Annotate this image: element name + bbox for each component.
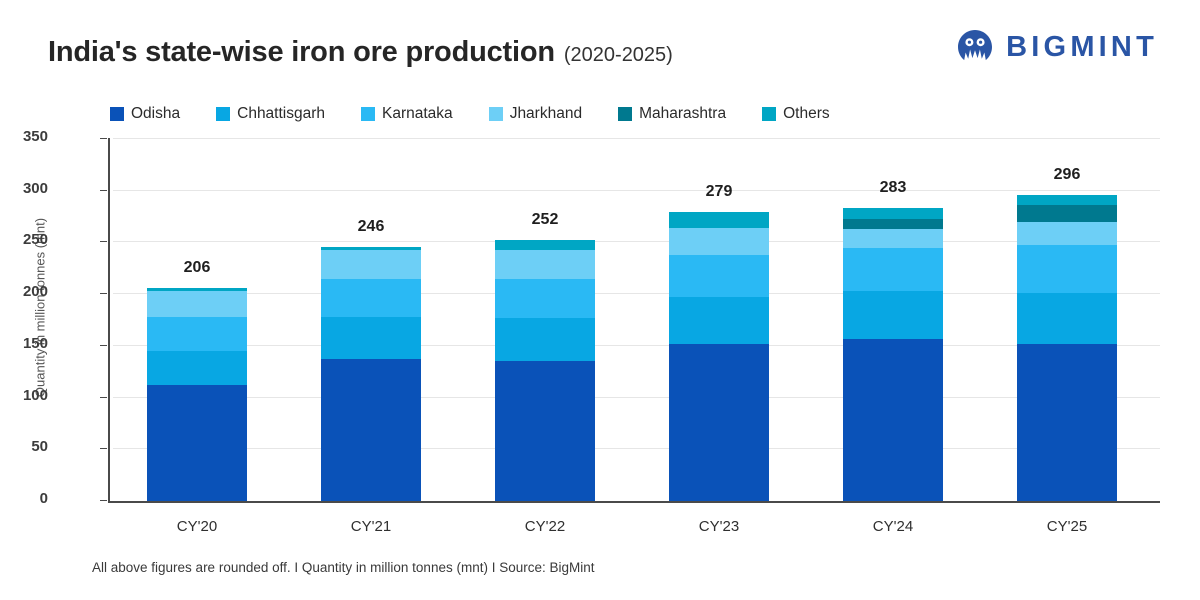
bar-segment[interactable] [1017,344,1117,501]
bar-segment[interactable] [495,361,595,501]
bar-segment[interactable] [495,279,595,318]
y-axis-tick [100,293,107,294]
y-axis-tick [100,241,107,242]
y-axis-tick-label: 50 [0,438,48,455]
legend-swatch-icon [618,107,632,121]
legend-label: Chhattisgarh [237,105,325,123]
y-axis-tick [100,190,107,191]
bar-segment[interactable] [147,291,247,317]
bar-segment[interactable] [843,291,943,339]
bar-total-label: 296 [1007,166,1127,184]
bar-segment[interactable] [843,208,943,218]
chart-page: India's state-wise iron ore production (… [0,0,1200,600]
page-title: India's state-wise iron ore production (… [48,36,673,69]
bar-segment[interactable] [147,385,247,501]
chart-legend: Odisha Chhattisgarh Karnataka Jharkhand … [110,105,866,123]
legend-item-karnataka[interactable]: Karnataka [361,105,453,123]
y-axis-tick-label: 350 [0,128,48,145]
grid-line [113,448,1160,449]
bar-segment[interactable] [1017,245,1117,294]
legend-swatch-icon [110,107,124,121]
legend-label: Odisha [131,105,180,123]
y-axis-tick-label: 100 [0,387,48,404]
y-axis-tick-label: 0 [0,490,48,507]
grid-line [113,293,1160,294]
y-axis-line [108,138,110,502]
bar-segment[interactable] [147,351,247,385]
x-axis-tick-label: CY'24 [823,518,963,535]
footer-note: All above figures are rounded off. I Qua… [92,560,595,575]
y-axis-tick [100,397,107,398]
legend-item-others[interactable]: Others [762,105,830,123]
legend-swatch-icon [361,107,375,121]
bar-stack[interactable] [1017,195,1117,501]
bar-stack[interactable] [321,247,421,501]
bar-segment[interactable] [1017,222,1117,245]
bar-stack[interactable] [495,240,595,501]
legend-item-jharkhand[interactable]: Jharkhand [489,105,582,123]
y-axis-tick-label: 300 [0,180,48,197]
bigmint-logo: BIGMINT [956,28,1158,66]
bigmint-logo-icon [956,28,994,66]
legend-label: Others [783,105,830,123]
bar-segment[interactable] [843,229,943,248]
bar-total-label: 283 [833,179,953,197]
grid-line [113,190,1160,191]
bar-segment[interactable] [321,317,421,359]
grid-line [113,345,1160,346]
bigmint-logo-text: BIGMINT [1006,31,1158,64]
y-axis-tick-label: 250 [0,231,48,248]
header: India's state-wise iron ore production (… [0,0,1200,92]
bar-segment[interactable] [669,297,769,344]
x-axis-tick-label: CY'23 [649,518,789,535]
y-axis-tick [100,345,107,346]
bar-segment[interactable] [321,359,421,501]
bar-segment[interactable] [1017,293,1117,344]
x-axis-tick-label: CY'25 [997,518,1137,535]
legend-swatch-icon [489,107,503,121]
bar-total-label: 252 [485,211,605,229]
bar-segment[interactable] [669,212,769,228]
legend-label: Maharashtra [639,105,726,123]
legend-swatch-icon [762,107,776,121]
grid-line [113,241,1160,242]
legend-item-odisha[interactable]: Odisha [110,105,180,123]
bar-stack[interactable] [843,208,943,501]
bar-segment[interactable] [495,318,595,361]
y-axis-tick-label: 150 [0,335,48,352]
x-axis-tick-label: CY'20 [127,518,267,535]
legend-label: Karnataka [382,105,453,123]
bar-total-label: 279 [659,183,779,201]
y-axis-tick-label: 200 [0,283,48,300]
legend-item-chhattisgarh[interactable]: Chhattisgarh [216,105,325,123]
bar-stack[interactable] [669,212,769,501]
bar-segment[interactable] [495,240,595,249]
bar-segment[interactable] [669,255,769,297]
y-axis-tick [100,138,107,139]
chart-area: Quantity in million tonnes (mnt) 0501001… [0,130,1200,530]
bar-segment[interactable] [321,250,421,279]
x-axis-tick-label: CY'22 [475,518,615,535]
bar-segment[interactable] [1017,195,1117,205]
y-axis-tick [100,448,107,449]
grid-line [113,138,1160,139]
bar-total-label: 246 [311,218,431,236]
x-axis-line [108,501,1160,503]
x-axis-tick-label: CY'21 [301,518,441,535]
legend-label: Jharkhand [510,105,582,123]
bar-segment[interactable] [843,339,943,501]
bar-segment[interactable] [669,344,769,501]
bar-segment[interactable] [495,250,595,279]
y-axis-tick [100,500,107,501]
bar-total-label: 206 [137,259,257,277]
bar-segment[interactable] [669,228,769,255]
legend-item-maharashtra[interactable]: Maharashtra [618,105,726,123]
bar-segment[interactable] [321,279,421,317]
bar-segment[interactable] [843,219,943,229]
bar-stack[interactable] [147,288,247,501]
grid-line [113,397,1160,398]
title-main: India's state-wise iron ore production [48,36,555,69]
legend-swatch-icon [216,107,230,121]
bar-segment[interactable] [843,248,943,291]
bar-segment[interactable] [1017,205,1117,222]
bar-segment[interactable] [147,317,247,351]
plot-area: 050100150200250300350206CY'20246CY'21252… [108,138,1160,502]
title-subtitle: (2020-2025) [564,44,673,67]
